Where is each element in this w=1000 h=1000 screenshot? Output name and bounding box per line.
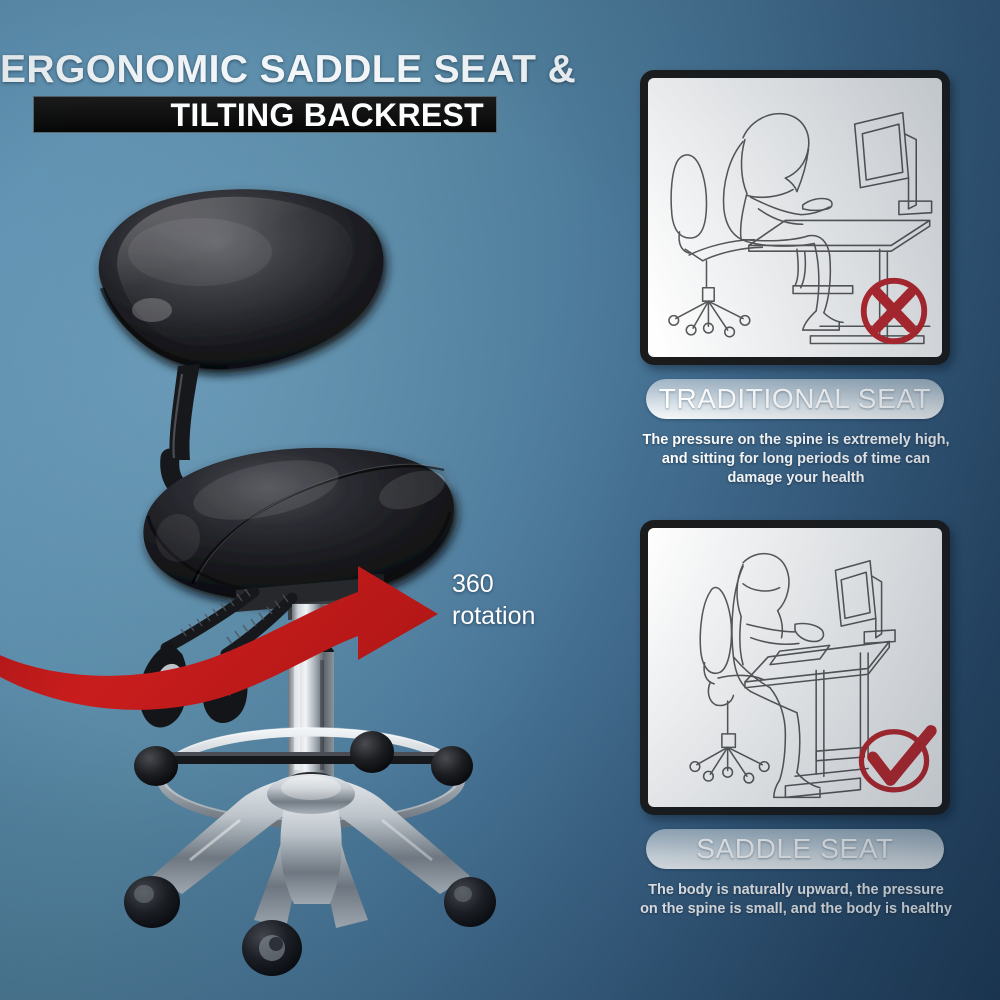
- product-infographic: ERGONOMIC SADDLE SEAT & TILTING BACKREST: [0, 0, 1000, 1000]
- pill-label-text: SADDLE SEAT: [696, 835, 893, 863]
- label-pill-traditional: TRADITIONAL SEAT: [646, 379, 944, 419]
- pill-label-text: TRADITIONAL SEAT: [659, 385, 932, 413]
- chair-backrest: [99, 189, 384, 369]
- comparison-block-traditional: TRADITIONAL SEAT The pressure on the spi…: [640, 70, 960, 488]
- illustration-traditional-seat: [648, 78, 942, 357]
- headline-banner: TILTING BACKREST: [33, 96, 497, 133]
- headline-line-2: TILTING BACKREST: [170, 99, 496, 131]
- illustration-panel-saddle: [640, 520, 950, 815]
- comparison-block-saddle: SADDLE SEAT The body is naturally upward…: [640, 520, 960, 919]
- caption-saddle: The body is naturally upward, the pressu…: [640, 881, 952, 919]
- rotation-word: rotation: [452, 600, 602, 632]
- rotation-value: 360: [452, 568, 602, 600]
- product-image-saddle-stool: [40, 160, 510, 970]
- chair-saddle-seat: [143, 448, 454, 601]
- headline-line-1: ERGONOMIC SADDLE SEAT &: [0, 50, 520, 89]
- red-check-icon: [850, 715, 938, 803]
- red-cross-icon: [852, 269, 936, 353]
- caption-traditional: The pressure on the spine is extremely h…: [640, 431, 952, 488]
- label-pill-saddle: SADDLE SEAT: [646, 829, 944, 869]
- illustration-panel-traditional: [640, 70, 950, 365]
- illustration-saddle-seat: [648, 528, 942, 807]
- five-star-chrome-base: [152, 774, 470, 928]
- rotation-annotation: 360 rotation: [452, 568, 602, 632]
- headline: ERGONOMIC SADDLE SEAT & TILTING BACKREST: [0, 50, 520, 133]
